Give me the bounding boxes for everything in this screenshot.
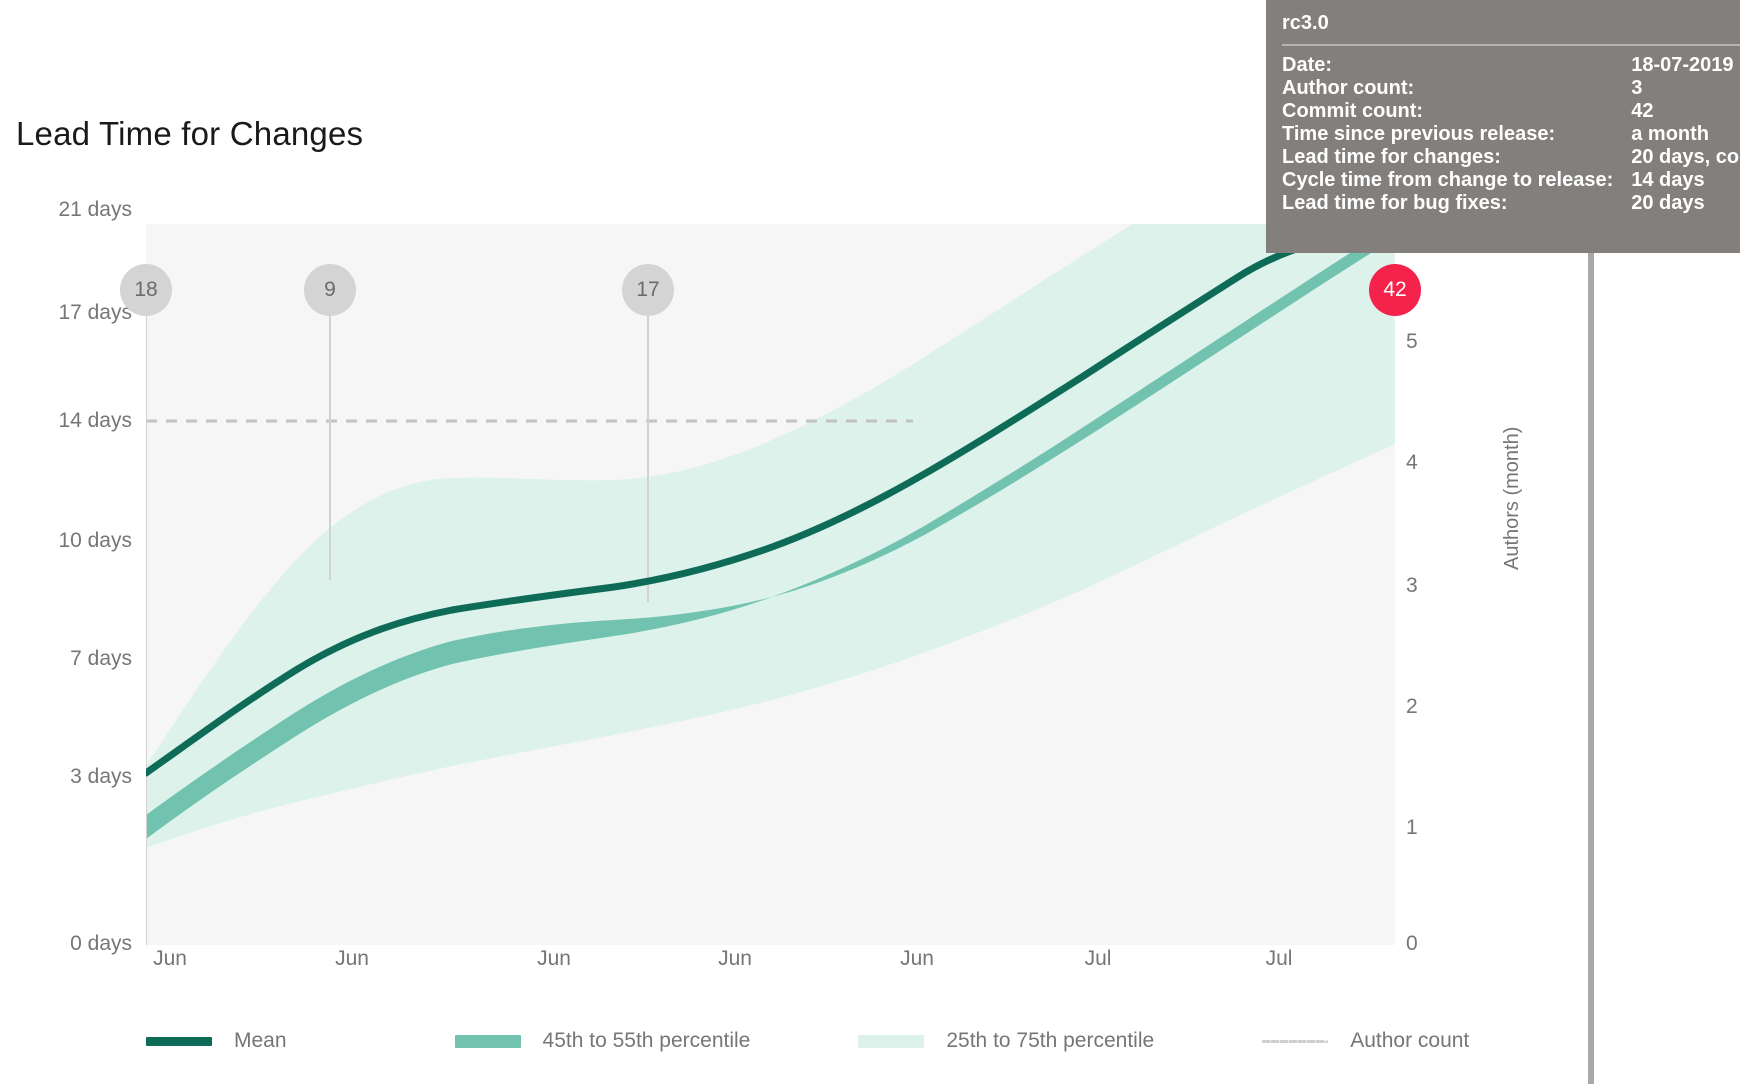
- y2-axis-tick-1: 1: [1406, 816, 1466, 840]
- tooltip-row: Commit count: 42: [1282, 100, 1740, 123]
- tooltip-value-author-count: 3: [1613, 77, 1740, 100]
- x-axis-tick-5: Jul: [1056, 947, 1140, 971]
- tooltip-value-commit-count: 42: [1613, 100, 1740, 123]
- tooltip-title: rc3.0: [1266, 12, 1740, 44]
- x-axis-tick-1: Jun: [310, 947, 394, 971]
- x-axis-tick-6: Jul: [1237, 947, 1321, 971]
- y2-axis-tick-2: 2: [1406, 695, 1466, 719]
- x-axis-tick-3: Jun: [693, 947, 777, 971]
- chart-legend: Mean 45th to 55th percentile 25th to 75t…: [146, 1026, 1469, 1056]
- tooltip-label-author-count: Author count:: [1282, 77, 1613, 100]
- panel-divider: [1588, 253, 1594, 1084]
- tooltip-value-lead-time-bug-fixes: 20 days: [1613, 192, 1740, 215]
- tooltip-row: Cycle time from change to release: 14 da…: [1282, 169, 1740, 192]
- y-axis-tick-14days: 14 days: [0, 409, 132, 433]
- y-axis-tick-7days: 7 days: [0, 647, 132, 671]
- x-axis-tick-2: Jun: [512, 947, 596, 971]
- legend-label-p45-p55: 45th to 55th percentile: [543, 1029, 751, 1053]
- tooltip-value-date: 18-07-2019: [1613, 54, 1740, 77]
- tooltip-label-commit-count: Commit count:: [1282, 100, 1613, 123]
- release-marker-17[interactable]: 17: [622, 264, 674, 316]
- release-tooltip: rc3.0 Date: 18-07-2019 Author count: 3 C…: [1266, 0, 1740, 253]
- y2-axis-title: Authors (month): [1501, 427, 1524, 570]
- y2-axis-tick-3: 3: [1406, 574, 1466, 598]
- y-axis-tick-0days: 0 days: [0, 932, 132, 956]
- tooltip-label-time-since-previous-release: Time since previous release:: [1282, 123, 1613, 146]
- legend-label-mean: Mean: [234, 1029, 287, 1053]
- x-axis-tick-4: Jun: [875, 947, 959, 971]
- y-axis-tick-17days: 17 days: [0, 301, 132, 325]
- tooltip-row: Time since previous release: a month: [1282, 123, 1740, 146]
- tooltip-row: Author count: 3: [1282, 77, 1740, 100]
- y2-axis-tick-4: 4: [1406, 451, 1466, 475]
- lead-time-chart: Lead Time for Changes 21 days 17 days 14…: [0, 0, 1740, 1084]
- legend-item-author-count[interactable]: Author count: [1262, 1029, 1469, 1053]
- y-axis-tick-10days: 10 days: [0, 529, 132, 553]
- tooltip-value-lead-time-for-changes: 20 days, confi: [1613, 146, 1740, 169]
- y-axis-tick-21days: 21 days: [0, 198, 132, 222]
- release-marker-18[interactable]: 18: [120, 264, 172, 316]
- tooltip-row: Lead time for bug fixes: 20 days: [1282, 192, 1740, 215]
- legend-swatch-p25-icon: [858, 1035, 924, 1048]
- legend-item-p25-p75[interactable]: 25th to 75th percentile: [858, 1029, 1154, 1053]
- tooltip-label-date: Date:: [1282, 54, 1613, 77]
- tooltip-divider: [1282, 44, 1740, 46]
- tooltip-value-time-since-previous-release: a month: [1613, 123, 1740, 146]
- legend-swatch-p45-icon: [455, 1035, 521, 1048]
- tooltip-label-lead-time-bug-fixes: Lead time for bug fixes:: [1282, 192, 1613, 215]
- tooltip-label-cycle-time: Cycle time from change to release:: [1282, 169, 1613, 192]
- tooltip-value-cycle-time: 14 days: [1613, 169, 1740, 192]
- legend-swatch-author-count-icon: [1262, 1040, 1328, 1043]
- legend-swatch-mean-icon: [146, 1037, 212, 1046]
- x-axis-tick-0: Jun: [128, 947, 212, 971]
- tooltip-table: Date: 18-07-2019 Author count: 3 Commit …: [1282, 54, 1740, 215]
- tooltip-row: Date: 18-07-2019: [1282, 54, 1740, 77]
- legend-item-p45-p55[interactable]: 45th to 55th percentile: [455, 1029, 751, 1053]
- y2-axis-tick-5: 5: [1406, 330, 1466, 354]
- y-axis-tick-3days: 3 days: [0, 765, 132, 789]
- legend-label-p25-p75: 25th to 75th percentile: [946, 1029, 1154, 1053]
- y2-axis-tick-0: 0: [1406, 932, 1466, 956]
- tooltip-label-lead-time-for-changes: Lead time for changes:: [1282, 146, 1613, 169]
- legend-label-author-count: Author count: [1350, 1029, 1469, 1053]
- legend-item-mean[interactable]: Mean: [146, 1029, 287, 1053]
- release-marker-9[interactable]: 9: [304, 264, 356, 316]
- release-marker-42[interactable]: 42: [1369, 264, 1421, 316]
- tooltip-row: Lead time for changes: 20 days, confi: [1282, 146, 1740, 169]
